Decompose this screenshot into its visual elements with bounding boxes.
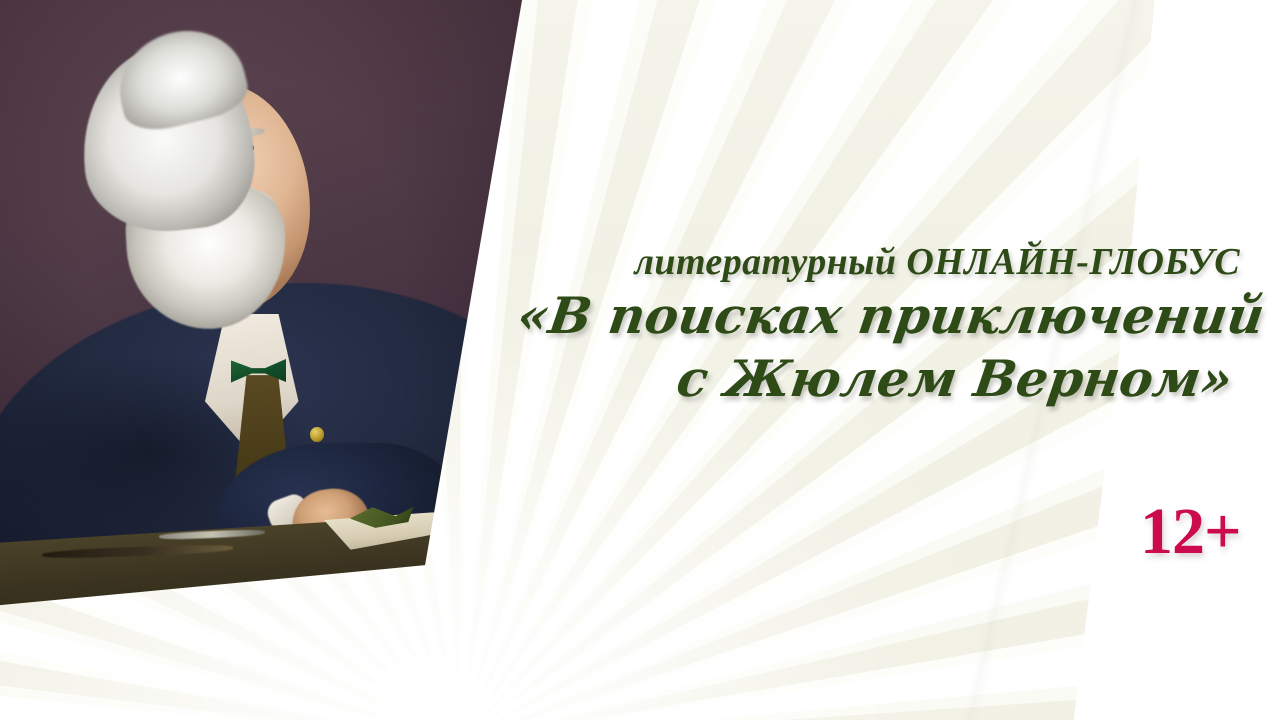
age-rating-badge: 12+ <box>1140 499 1241 565</box>
event-kicker-text: литературный ОНЛАЙН-ГЛОБУС <box>470 243 1240 281</box>
title-block: литературный ОНЛАЙН-ГЛОБУС «В поисках пр… <box>470 243 1270 405</box>
poster-canvas: литературный ОНЛАЙН-ГЛОБУС «В поисках пр… <box>0 0 1280 720</box>
event-title-line-2: с Жюлем Верном» <box>466 352 1243 405</box>
event-title-line-1: «В поисках приключений <box>466 289 1243 342</box>
portrait-lapel-pin <box>310 427 324 442</box>
